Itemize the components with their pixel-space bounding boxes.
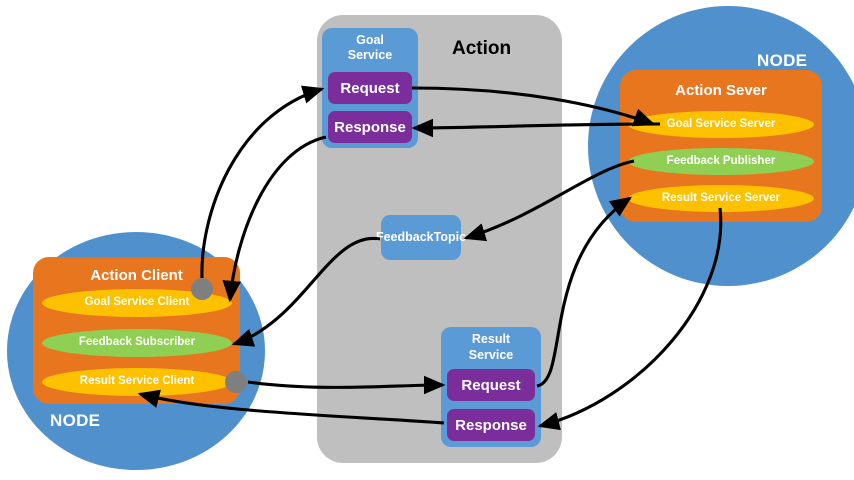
arrow-layer: [0, 0, 854, 480]
arrow-goalclient-to-goalrequest: [202, 89, 322, 278]
arrow-goalrequest-to-goalserver: [412, 88, 653, 124]
arrow-resultresponse-to-resultclient: [140, 394, 444, 423]
diagram-canvas: Action NODE Action Sever Goal Service Se…: [0, 0, 854, 480]
arrow-goalserver-to-goalresponse: [414, 124, 660, 128]
arrow-resultclient-to-resultrequest: [248, 382, 443, 387]
arrow-resultserver-to-resultresponse: [540, 208, 721, 426]
arrow-feedbackpublisher-to-feedbacktopic: [466, 161, 634, 238]
arrow-resultrequest-to-resultserver: [537, 198, 630, 386]
arrow-goalresponse-to-goalclient: [230, 137, 326, 300]
arrow-feedbacktopic-to-feedbacksubscriber: [234, 238, 380, 344]
